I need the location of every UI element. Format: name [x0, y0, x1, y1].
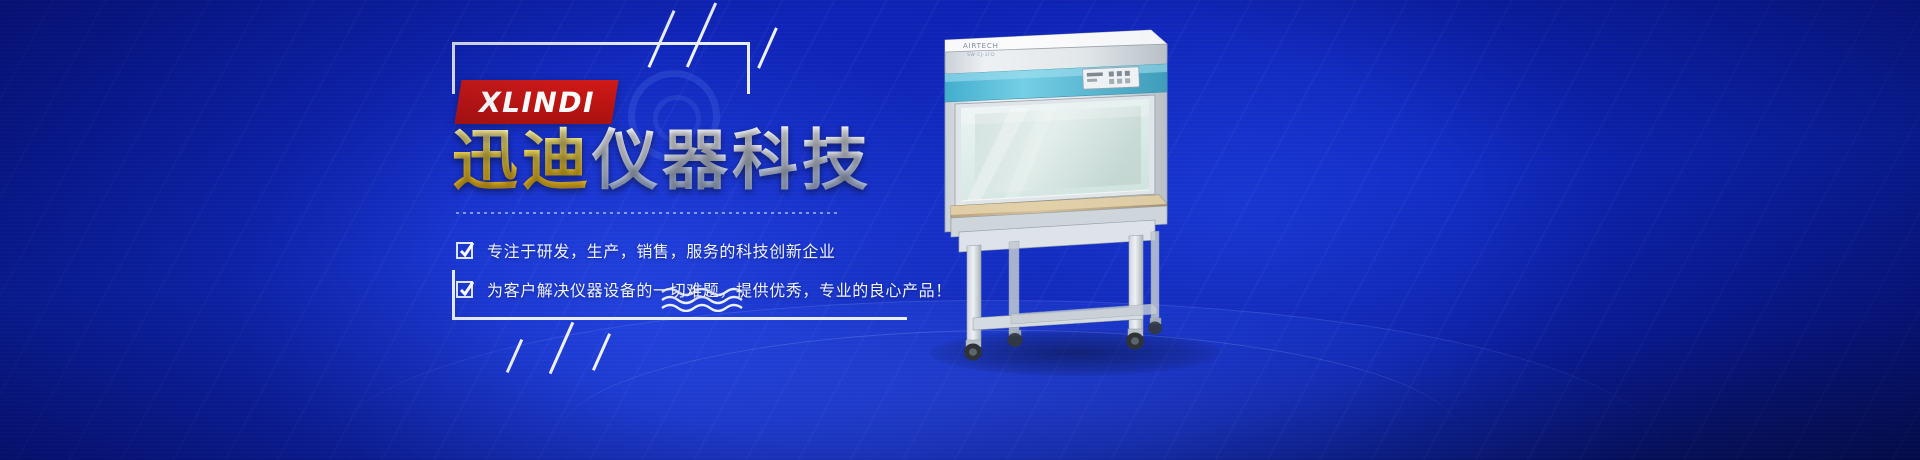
list-item-label: 专注于研发，生产，销售，服务的科技创新企业	[487, 238, 836, 262]
diagonal-slash-icon	[592, 333, 611, 371]
checkbox-check-icon	[456, 242, 473, 259]
product-brand-label: AIRTECH	[963, 42, 999, 50]
brand-logo-plate: XLINDI	[455, 80, 619, 124]
caster-wheel	[964, 340, 982, 361]
diagonal-slash-icon	[757, 27, 778, 68]
product-model-label: SW-CJ-1FD	[967, 52, 995, 58]
feature-bullet-list: 专注于研发，生产，销售，服务的科技创新企业 为客户解决仪器设备的一切难题，提供优…	[456, 238, 952, 316]
headline-silver-part: 仪器科技	[592, 122, 872, 199]
checkbox-check-icon	[456, 281, 473, 298]
headline-gold-part: 迅迪	[452, 122, 592, 199]
product-image-laminar-flow-cabinet: AIRTECH SW-CJ-1FD	[915, 18, 1215, 398]
list-item-label: 为客户解决仪器设备的一切难题，提供优秀，专业的良心产品！	[487, 277, 952, 301]
frame-edge-top-right	[747, 42, 750, 94]
frame-edge-bottom-right	[747, 317, 907, 320]
page-title: 迅迪仪器科技	[452, 128, 872, 194]
caster-wheel	[1126, 329, 1144, 350]
caster-wheel	[1008, 330, 1023, 347]
list-item: 为客户解决仪器设备的一切难题，提供优秀，专业的良心产品！	[456, 277, 952, 301]
brand-logo-text: XLINDI	[475, 86, 597, 119]
control-panel	[1083, 67, 1140, 89]
diagonal-slash-icon	[549, 322, 575, 374]
promo-banner: XLINDI 迅迪仪器科技 专注于研发，生产，销售，服务的科技创新企业 为客户解…	[0, 0, 1920, 460]
list-item: 专注于研发，生产，销售，服务的科技创新企业	[456, 238, 952, 262]
dotted-divider	[456, 212, 838, 214]
caster-wheel	[1148, 318, 1162, 335]
diagonal-slash-icon	[506, 339, 523, 373]
